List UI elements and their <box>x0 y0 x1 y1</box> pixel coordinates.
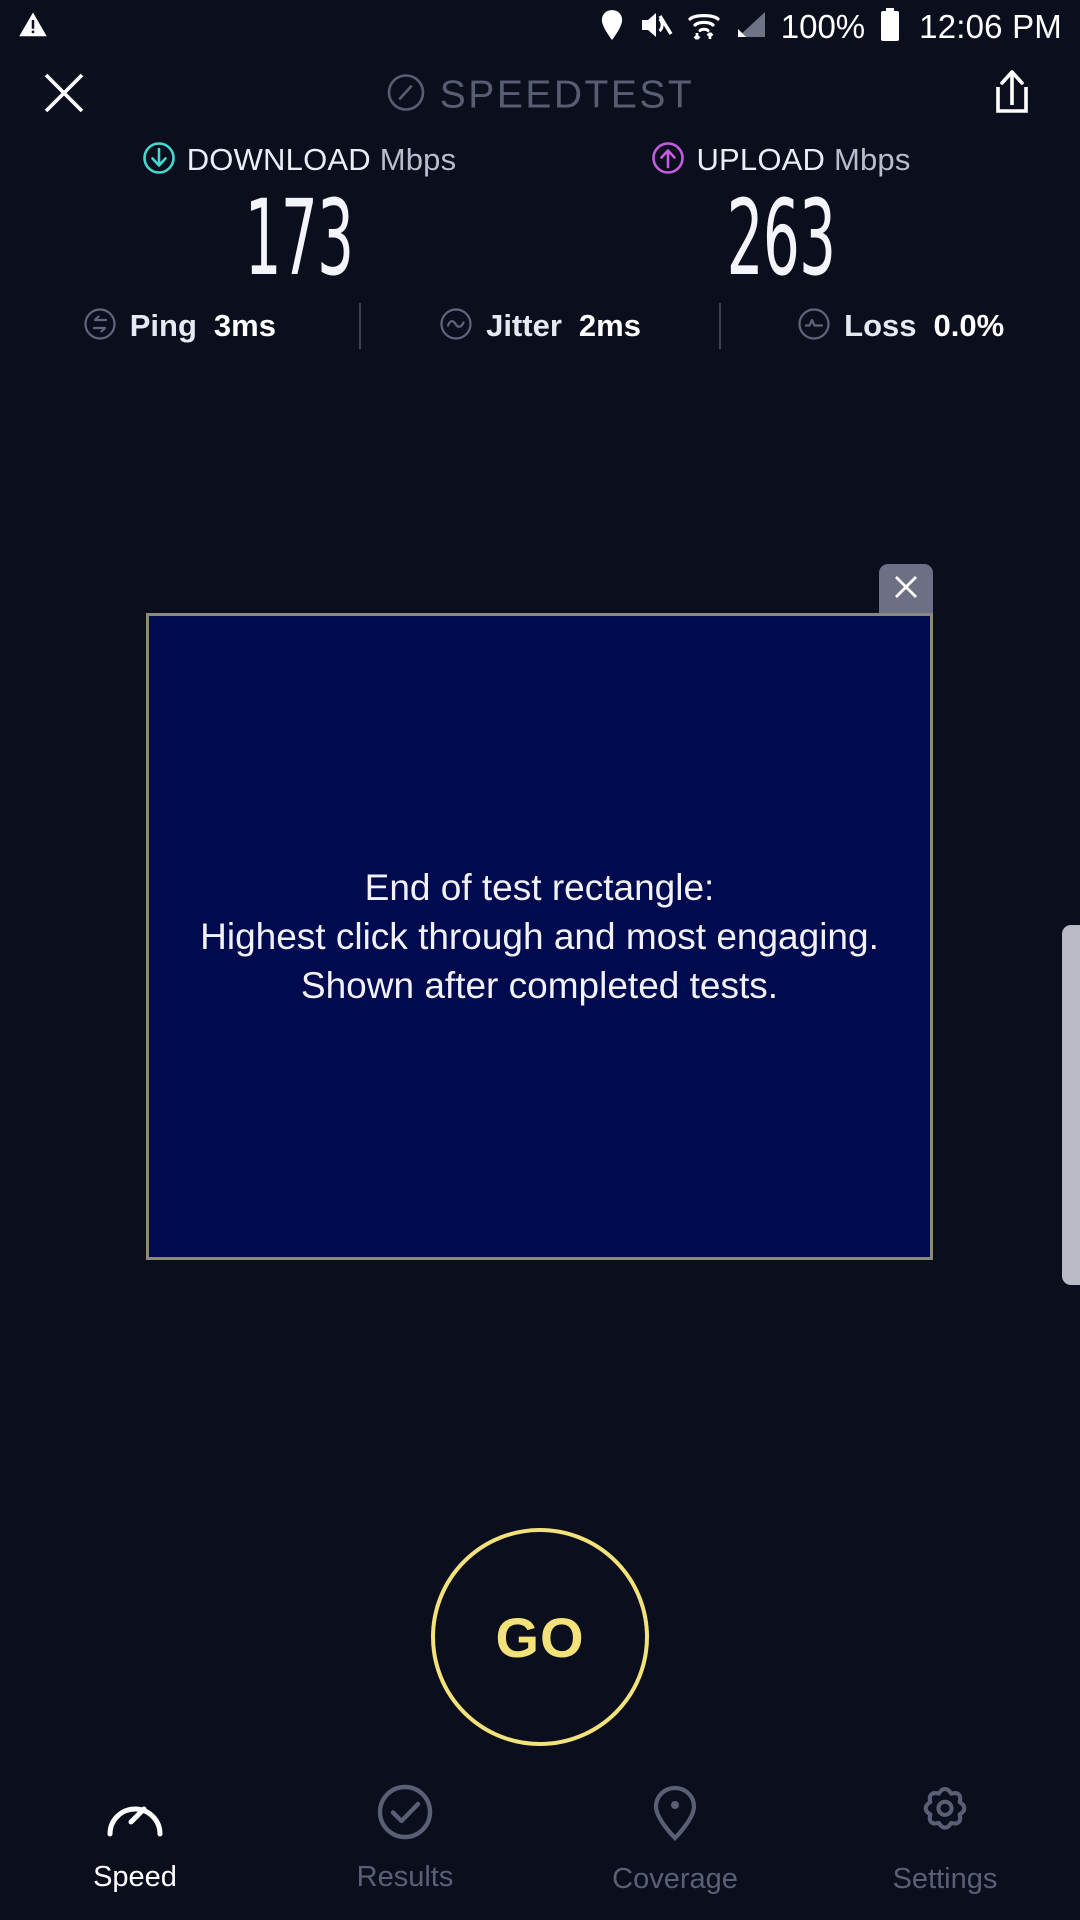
metric-jitter-value: 2ms <box>579 308 641 344</box>
nav-item-settings-label: Settings <box>893 1863 998 1896</box>
clock-label: 12:06 PM <box>919 8 1062 46</box>
go-button-label: GO <box>495 1605 584 1670</box>
scrollbar-thumb[interactable] <box>1062 925 1080 1285</box>
speedometer-icon <box>104 1784 166 1845</box>
speed-results: DOWNLOAD Mbps 173 UPLOAD Mbps 263 <box>0 140 1080 290</box>
ad-line-2: Highest click through and most engaging. <box>163 912 916 961</box>
ping-icon <box>83 307 117 346</box>
speed-results-row: DOWNLOAD Mbps 173 UPLOAD Mbps 263 <box>0 140 1080 290</box>
metric-ping-label: Ping <box>130 308 197 344</box>
nav-item-results-label: Results <box>357 1861 454 1894</box>
speedtest-app-screen: 100% 12:06 PM <box>0 0 1080 1920</box>
metric-ping-value: 3ms <box>214 308 276 344</box>
ad-text: End of test rectangle: Highest click thr… <box>149 863 930 1011</box>
nav-item-results[interactable]: Results <box>270 1784 540 1894</box>
battery-percent-label: 100% <box>781 8 865 46</box>
download-label-row: DOWNLOAD Mbps <box>89 140 509 180</box>
download-value: 173 <box>169 186 429 290</box>
close-icon <box>891 572 921 607</box>
speedometer-icon <box>386 73 426 118</box>
metric-loss-value: 0.0% <box>934 308 1005 344</box>
status-bar-left <box>18 10 48 45</box>
share-icon <box>989 67 1035 124</box>
mute-icon <box>639 10 673 45</box>
nav-item-coverage-label: Coverage <box>612 1863 738 1896</box>
upload-arrow-icon <box>651 141 685 180</box>
jitter-icon <box>439 307 473 346</box>
cellular-signal-icon <box>735 10 767 45</box>
metric-jitter-label: Jitter <box>486 308 562 344</box>
page-title: SPEEDTEST <box>0 73 1080 118</box>
upload-value: 263 <box>651 186 911 290</box>
share-button[interactable] <box>982 63 1042 127</box>
nav-item-coverage[interactable]: Coverage <box>540 1784 810 1896</box>
connection-metrics: Ping 3ms Jitter 2ms Loss 0.0 <box>0 296 1080 356</box>
upload-label: UPLOAD Mbps <box>696 142 910 178</box>
page-title-label: SPEEDTEST <box>440 73 694 117</box>
ad-line-3: Shown after completed tests. <box>163 961 916 1010</box>
ad-line-1: End of test rectangle: <box>163 863 916 912</box>
nav-item-speed-label: Speed <box>93 1861 177 1894</box>
upload-label-row: UPLOAD Mbps <box>571 140 991 180</box>
download-arrow-icon <box>142 141 176 180</box>
battery-full-icon <box>879 8 901 47</box>
bottom-navigation: Speed Results Coverage <box>0 1770 1080 1920</box>
advertisement-banner[interactable]: End of test rectangle: Highest click thr… <box>146 613 933 1260</box>
go-button[interactable]: GO <box>431 1528 649 1746</box>
metric-ping: Ping 3ms <box>0 307 359 346</box>
download-label: DOWNLOAD Mbps <box>187 142 457 178</box>
metric-loss-label: Loss <box>844 308 916 344</box>
wifi-icon <box>687 9 721 46</box>
download-result: DOWNLOAD Mbps 173 <box>89 140 509 290</box>
warning-triangle-icon <box>18 10 48 45</box>
upload-result: UPLOAD Mbps 263 <box>571 140 991 290</box>
metric-loss: Loss 0.0% <box>721 307 1080 346</box>
status-bar-right: 100% 12:06 PM <box>599 8 1062 47</box>
gear-icon <box>914 1784 976 1847</box>
status-bar: 100% 12:06 PM <box>0 0 1080 54</box>
location-pin-icon <box>599 9 625 46</box>
app-header: SPEEDTEST <box>0 54 1080 136</box>
location-pin-icon <box>644 1784 706 1847</box>
metric-jitter: Jitter 2ms <box>361 307 720 346</box>
loss-icon <box>797 307 831 346</box>
nav-item-speed[interactable]: Speed <box>0 1784 270 1894</box>
nav-item-settings[interactable]: Settings <box>810 1784 1080 1896</box>
ad-close-button[interactable] <box>879 564 933 614</box>
check-circle-icon <box>374 1784 436 1845</box>
